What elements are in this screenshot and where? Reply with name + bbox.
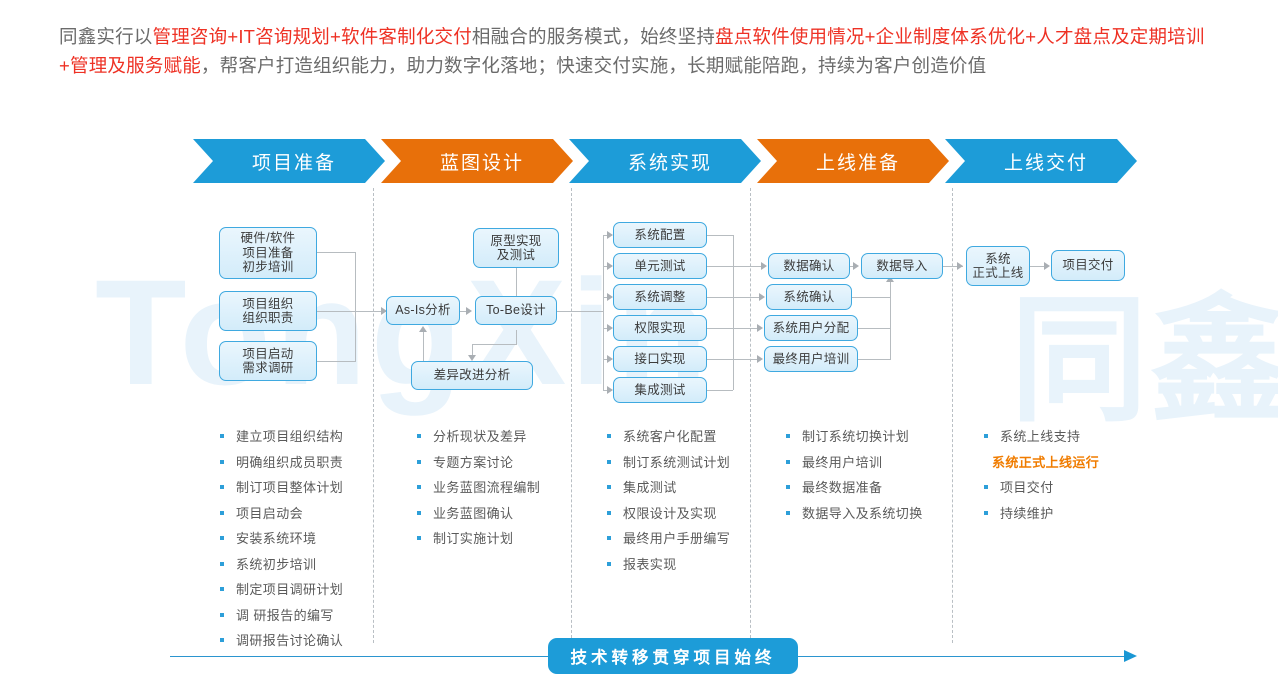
flow-box-line: 数据确认 (783, 259, 834, 274)
list-item: 系统初步培训 (218, 556, 343, 573)
connector-arrow-icon (759, 293, 765, 301)
intro-highlight: 盘点软件使用情况 (715, 26, 865, 47)
phase-label: 蓝图设计 (430, 148, 524, 175)
flow-box[interactable]: 原型实现及测试 (473, 228, 559, 268)
connector-line (858, 359, 890, 360)
flow-box-line: 系统 (972, 252, 1023, 267)
flow-box-line: 组织职责 (242, 311, 293, 326)
flow-box-line: 硬件/软件 (241, 231, 296, 246)
flow-box-label: 系统用户分配 (773, 321, 850, 336)
flow-box-label: 权限实现 (634, 321, 685, 336)
flow-box-label: 项目组织组织职责 (242, 297, 293, 326)
flow-box-line: 原型实现 (490, 234, 541, 249)
slide-root: TongXin 同鑫 同鑫实行以管理咨询+IT咨询规划+软件客制化交付相融合的服… (0, 0, 1278, 684)
connector-line (707, 235, 733, 236)
flow-box-label: 最终用户培训 (773, 352, 850, 367)
flow-box-line: 接口实现 (634, 352, 685, 367)
connector-line (890, 282, 891, 360)
flow-box[interactable]: 硬件/软件项目准备初步培训 (219, 227, 317, 279)
intro-highlight: 企业制度体系优化 (876, 26, 1026, 47)
phase-label: 上线交付 (994, 148, 1088, 175)
bullet-list-col4: 制订系统切换计划最终用户培训最终数据准备数据导入及系统切换 (784, 428, 923, 530)
flow-box-label: To-Be设计 (486, 303, 546, 318)
flow-box-line: 项目启动 (242, 347, 293, 362)
connector-arrow-icon (757, 324, 763, 332)
flow-box[interactable]: 系统确认 (766, 284, 852, 310)
connector-line (858, 328, 890, 329)
flow-box-line: 最终用户培训 (773, 352, 850, 367)
column-separator-1 (373, 188, 374, 643)
flow-box[interactable]: 数据确认 (768, 253, 850, 279)
flow-box-line: 项目准备 (241, 246, 296, 261)
list-item: 分析现状及差异 (415, 428, 540, 445)
flow-box-label: 单元测试 (634, 259, 685, 274)
list-item: 系统上线支持 (982, 428, 1099, 445)
flow-box[interactable]: 系统配置 (613, 222, 707, 248)
list-item: 报表实现 (605, 556, 730, 573)
intro-text: ，帮客户打造组织能力，助力数字化落地；快速交付实施，长期赋能陪跑，持续为客户创造… (201, 55, 986, 76)
bullet-list-col2: 分析现状及差异专题方案讨论业务蓝图流程编制业务蓝图确认制订实施计划 (415, 428, 540, 556)
column-separator-2 (571, 188, 572, 643)
list-item: 调 研报告的编写 (218, 607, 343, 624)
connector-arrow-icon (757, 355, 763, 363)
list-item: 制定项目调研计划 (218, 581, 343, 598)
bullet-list-col1: 建立项目组织结构明确组织成员职责制订项目整体计划项目启动会安装系统环境系统初步培… (218, 428, 343, 658)
flow-box-label: 项目交付 (1062, 258, 1113, 273)
list-item: 权限设计及实现 (605, 505, 730, 522)
phase-chevron-4[interactable]: 上线准备 (757, 139, 949, 183)
phase-chevron-1[interactable]: 项目准备 (193, 139, 385, 183)
bullet-list-col3: 系统客户化配置制订系统测试计划集成测试权限设计及实现最终用户手册编写报表实现 (605, 428, 730, 581)
connector-line (707, 266, 733, 267)
list-item: 专题方案讨论 (415, 454, 540, 471)
intro-highlight: + (227, 26, 238, 47)
list-item: 安装系统环境 (218, 530, 343, 547)
list-item: 数据导入及系统切换 (784, 505, 923, 522)
connector-arrow-icon (853, 262, 859, 270)
flow-box-line: 单元测试 (634, 259, 685, 274)
connector-line (707, 390, 733, 391)
connector-arrow-icon (419, 326, 427, 332)
list-item: 业务蓝图流程编制 (415, 479, 540, 496)
flow-box[interactable]: 项目组织组织职责 (219, 291, 317, 331)
flow-box-label: 集成测试 (634, 383, 685, 398)
flow-box[interactable]: 项目交付 (1051, 250, 1125, 281)
flow-box-label: 差异改进分析 (434, 368, 511, 383)
connector-arrow-icon (466, 307, 472, 315)
connector-arrow-icon (957, 262, 963, 270)
flow-box-label: 数据确认 (783, 259, 834, 274)
intro-highlight: 人才盘点及定期培训 (1036, 26, 1204, 47)
intro-highlight: + (330, 26, 341, 47)
connector-line (317, 252, 355, 253)
flow-box[interactable]: 系统正式上线 (966, 246, 1030, 286)
flow-box-label: 系统确认 (783, 290, 834, 305)
intro-highlight: 管理咨询 (153, 26, 228, 47)
footer-arrow-icon (1124, 650, 1137, 662)
connector-line (707, 328, 733, 329)
list-item: 集成测试 (605, 479, 730, 496)
list-item: 业务蓝图确认 (415, 505, 540, 522)
flow-box[interactable]: 权限实现 (613, 315, 707, 341)
flow-box-line: 项目组织 (242, 297, 293, 312)
connector-line (472, 344, 517, 345)
list-item: 系统正式上线运行 (982, 454, 1099, 471)
flow-box-label: 硬件/软件项目准备初步培训 (241, 231, 296, 275)
flow-box[interactable]: 项目启动需求调研 (219, 341, 317, 381)
phase-banner: 项目准备蓝图设计系统实现上线准备上线交付 (193, 139, 1137, 183)
list-item: 制订实施计划 (415, 530, 540, 547)
intro-highlight: + (865, 26, 876, 47)
list-item: 项目交付 (982, 479, 1099, 496)
flow-box-label: 数据导入 (876, 259, 927, 274)
intro-text: 相融合的服务模式，始终坚持 (472, 26, 715, 47)
list-item: 明确组织成员职责 (218, 454, 343, 471)
list-item: 项目启动会 (218, 505, 343, 522)
flow-box-line: 集成测试 (634, 383, 685, 398)
list-item: 调研报告讨论确认 (218, 632, 343, 649)
flow-box-line: 系统配置 (634, 228, 685, 243)
flow-box[interactable]: 最终用户培训 (764, 346, 858, 372)
connector-line (707, 359, 733, 360)
intro-text: 同鑫实行以 (59, 26, 153, 47)
list-item: 系统客户化配置 (605, 428, 730, 445)
connector-line (317, 361, 355, 362)
bullet-list-col5: 系统上线支持系统正式上线运行项目交付持续维护 (982, 428, 1099, 530)
connector-line (707, 297, 733, 298)
connector-arrow-icon (1044, 262, 1050, 270)
phase-chevron-5[interactable]: 上线交付 (945, 139, 1137, 183)
phase-label: 系统实现 (618, 148, 712, 175)
list-item: 最终用户手册编写 (605, 530, 730, 547)
phase-chevron-3[interactable]: 系统实现 (569, 139, 761, 183)
column-separator-4 (952, 188, 953, 643)
flow-box-label: 项目启动需求调研 (242, 347, 293, 376)
footer-banner: 技术转移贯穿项目始终 (548, 638, 798, 674)
flow-box-label: 系统正式上线 (972, 252, 1023, 281)
intro-highlight: 管理及服务赋能 (70, 55, 201, 76)
flow-box-line: 系统调整 (634, 290, 685, 305)
flow-box-line: 初步培训 (241, 260, 296, 275)
flow-box-line: 正式上线 (972, 266, 1023, 281)
flow-box-line: 项目交付 (1062, 258, 1113, 273)
flow-box-line: 数据导入 (876, 259, 927, 274)
intro-highlight: + (1025, 26, 1036, 47)
flow-box-label: 原型实现及测试 (490, 234, 541, 263)
flow-box[interactable]: To-Be设计 (475, 296, 557, 325)
flow-box-line: 及测试 (490, 248, 541, 263)
flow-box-label: 系统配置 (634, 228, 685, 243)
flow-box-label: 接口实现 (634, 352, 685, 367)
flow-box-label: 系统调整 (634, 290, 685, 305)
connector-line (355, 252, 356, 362)
flow-box-line: As-Is分析 (395, 303, 451, 318)
intro-highlight: IT咨询规划 (238, 26, 330, 47)
list-item: 最终用户培训 (784, 454, 923, 471)
phase-label: 项目准备 (242, 148, 336, 175)
flow-box[interactable]: 集成测试 (613, 377, 707, 403)
intro-highlight: + (59, 55, 70, 76)
column-separator-3 (750, 188, 751, 643)
phase-chevron-2[interactable]: 蓝图设计 (381, 139, 573, 183)
flow-box-line: 差异改进分析 (434, 368, 511, 383)
flow-box-line: 系统用户分配 (773, 321, 850, 336)
flow-box-label: As-Is分析 (395, 303, 451, 318)
connector-line (603, 235, 604, 390)
list-item: 制订项目整体计划 (218, 479, 343, 496)
connector-line (423, 345, 424, 361)
watermark-right: 同鑫 (1010, 248, 1278, 448)
list-item: 持续维护 (982, 505, 1099, 522)
connector-line (317, 311, 355, 312)
connector-arrow-icon (761, 262, 767, 270)
intro-paragraph: 同鑫实行以管理咨询+IT咨询规划+软件客制化交付相融合的服务模式，始终坚持盘点软… (59, 22, 1227, 80)
connector-line (516, 330, 517, 344)
flow-box[interactable]: 数据导入 (861, 253, 943, 279)
flow-box[interactable]: 系统用户分配 (764, 315, 858, 341)
flow-box-line: 需求调研 (242, 361, 293, 376)
connector-line (516, 268, 517, 296)
flow-box[interactable]: As-Is分析 (386, 296, 460, 325)
flow-box-line: 权限实现 (634, 321, 685, 336)
flow-box-line: To-Be设计 (486, 303, 546, 318)
connector-line (557, 311, 603, 312)
flow-box[interactable]: 单元测试 (613, 253, 707, 279)
flow-box-line: 系统确认 (783, 290, 834, 305)
list-item: 最终数据准备 (784, 479, 923, 496)
list-item: 制订系统测试计划 (605, 454, 730, 471)
flow-box[interactable]: 接口实现 (613, 346, 707, 372)
phase-label: 上线准备 (806, 148, 900, 175)
connector-line (852, 297, 890, 298)
list-item: 建立项目组织结构 (218, 428, 343, 445)
list-item: 制订系统切换计划 (784, 428, 923, 445)
flow-box[interactable]: 差异改进分析 (411, 361, 533, 390)
intro-highlight: 软件客制化交付 (341, 26, 472, 47)
flow-box[interactable]: 系统调整 (613, 284, 707, 310)
connector-line (733, 235, 734, 390)
